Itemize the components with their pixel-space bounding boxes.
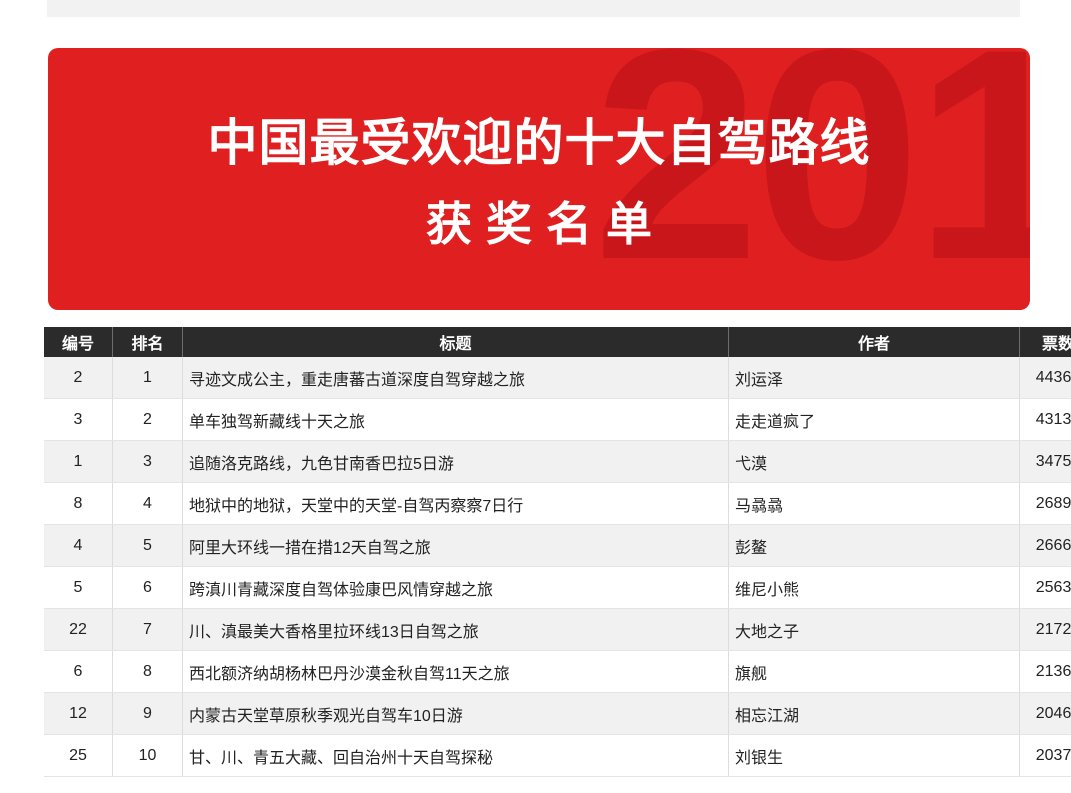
table-row[interactable]: 84地狱中的地狱，天堂中的天堂-自驾丙察察7日行马骉骉26891 — [44, 483, 1071, 525]
cell-author: 走走道疯了 — [729, 399, 1020, 441]
cell-title: 地狱中的地狱，天堂中的天堂-自驾丙察察7日行 — [183, 483, 729, 525]
cell-rank: 3 — [113, 441, 183, 483]
cell-rank: 10 — [113, 735, 183, 777]
cell-author: 大地之子 — [729, 609, 1020, 651]
table-header: 编号 排名 标题 作者 票数 — [44, 327, 1071, 357]
cell-id: 12 — [44, 693, 113, 735]
column-header-author[interactable]: 作者 — [729, 327, 1020, 357]
cell-title: 甘、川、青五大藏、回自治州十天自驾探秘 — [183, 735, 729, 777]
cell-id: 22 — [44, 609, 113, 651]
banner-text-group: 中国最受欢迎的十大自驾路线 获奖名单 — [48, 48, 1030, 310]
table-row[interactable]: 13追随洛克路线，九色甘南香巴拉5日游弋漠34757 — [44, 441, 1071, 483]
column-header-votes[interactable]: 票数 — [1020, 327, 1071, 357]
award-banner: 2017 中国最受欢迎的十大自驾路线 获奖名单 — [48, 48, 1030, 310]
cell-id: 1 — [44, 441, 113, 483]
cell-title: 阿里大环线一措在措12天自驾之旅 — [183, 525, 729, 567]
cell-votes: 34757 — [1020, 441, 1071, 483]
cell-rank: 4 — [113, 483, 183, 525]
cell-title: 跨滇川青藏深度自驾体验康巴风情穿越之旅 — [183, 567, 729, 609]
cell-votes: 20460 — [1020, 693, 1071, 735]
cell-id: 4 — [44, 525, 113, 567]
cell-votes: 21368 — [1020, 651, 1071, 693]
cell-rank: 1 — [113, 357, 183, 399]
column-header-id[interactable]: 编号 — [44, 327, 113, 357]
cell-rank: 7 — [113, 609, 183, 651]
cell-author: 刘银生 — [729, 735, 1020, 777]
cell-title: 单车独驾新藏线十天之旅 — [183, 399, 729, 441]
table-row[interactable]: 45阿里大环线一措在措12天自驾之旅彭鳌26661 — [44, 525, 1071, 567]
cell-votes: 43132 — [1020, 399, 1071, 441]
cell-title: 内蒙古天堂草原秋季观光自驾车10日游 — [183, 693, 729, 735]
table-body: 21寻迹文成公主，重走唐蕃古道深度自驾穿越之旅刘运泽4436832单车独驾新藏线… — [44, 357, 1071, 777]
cell-id: 2 — [44, 357, 113, 399]
top-gray-strip — [47, 0, 1020, 17]
cell-id: 3 — [44, 399, 113, 441]
cell-votes: 20377 — [1020, 735, 1071, 777]
cell-author: 相忘江湖 — [729, 693, 1020, 735]
column-header-title[interactable]: 标题 — [183, 327, 729, 357]
cell-rank: 5 — [113, 525, 183, 567]
table-header-row: 编号 排名 标题 作者 票数 — [44, 327, 1071, 357]
banner-subtitle: 获奖名单 — [412, 196, 666, 254]
cell-votes: 44368 — [1020, 357, 1071, 399]
cell-id: 5 — [44, 567, 113, 609]
table-row[interactable]: 2510甘、川、青五大藏、回自治州十天自驾探秘刘银生20377 — [44, 735, 1071, 777]
cell-author: 刘运泽 — [729, 357, 1020, 399]
cell-author: 弋漠 — [729, 441, 1020, 483]
cell-title: 川、滇最美大香格里拉环线13日自驾之旅 — [183, 609, 729, 651]
table-row[interactable]: 56跨滇川青藏深度自驾体验康巴风情穿越之旅维尼小熊25634 — [44, 567, 1071, 609]
cell-title: 追随洛克路线，九色甘南香巴拉5日游 — [183, 441, 729, 483]
award-list-table: 编号 排名 标题 作者 票数 21寻迹文成公主，重走唐蕃古道深度自驾穿越之旅刘运… — [44, 327, 1071, 777]
cell-author: 旗舰 — [729, 651, 1020, 693]
cell-rank: 6 — [113, 567, 183, 609]
cell-rank: 8 — [113, 651, 183, 693]
cell-author: 彭鳌 — [729, 525, 1020, 567]
cell-id: 6 — [44, 651, 113, 693]
cell-votes: 21724 — [1020, 609, 1071, 651]
table-row[interactable]: 129内蒙古天堂草原秋季观光自驾车10日游相忘江湖20460 — [44, 693, 1071, 735]
table-row[interactable]: 227川、滇最美大香格里拉环线13日自驾之旅大地之子21724 — [44, 609, 1071, 651]
cell-rank: 2 — [113, 399, 183, 441]
cell-id: 8 — [44, 483, 113, 525]
cell-votes: 26661 — [1020, 525, 1071, 567]
cell-title: 西北额济纳胡杨林巴丹沙漠金秋自驾11天之旅 — [183, 651, 729, 693]
cell-title: 寻迹文成公主，重走唐蕃古道深度自驾穿越之旅 — [183, 357, 729, 399]
cell-votes: 25634 — [1020, 567, 1071, 609]
cell-votes: 26891 — [1020, 483, 1071, 525]
cell-id: 25 — [44, 735, 113, 777]
cell-rank: 9 — [113, 693, 183, 735]
table-row[interactable]: 68西北额济纳胡杨林巴丹沙漠金秋自驾11天之旅旗舰21368 — [44, 651, 1071, 693]
table-row[interactable]: 21寻迹文成公主，重走唐蕃古道深度自驾穿越之旅刘运泽44368 — [44, 357, 1071, 399]
column-header-rank[interactable]: 排名 — [113, 327, 183, 357]
banner-title: 中国最受欢迎的十大自驾路线 — [208, 113, 871, 174]
table-row[interactable]: 32单车独驾新藏线十天之旅走走道疯了43132 — [44, 399, 1071, 441]
cell-author: 马骉骉 — [729, 483, 1020, 525]
cell-author: 维尼小熊 — [729, 567, 1020, 609]
